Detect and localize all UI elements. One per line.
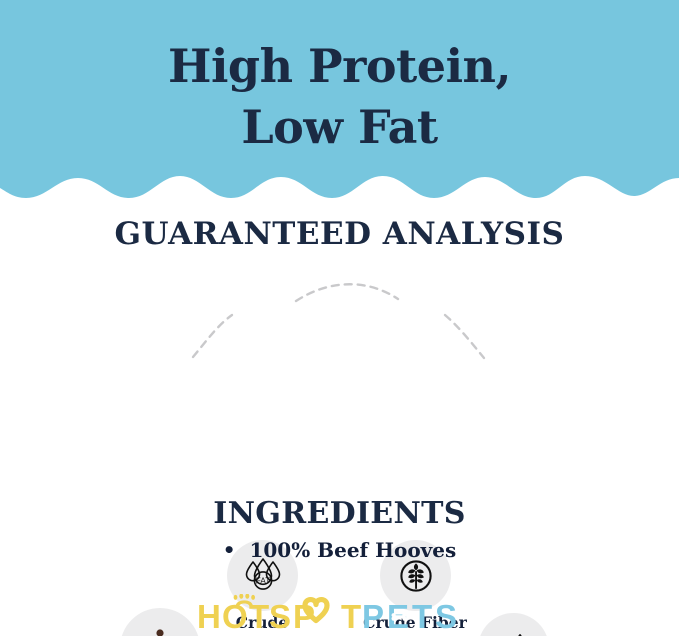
ingredients-list: • 100% Beef Hooves (0, 538, 679, 562)
hero-title: High Protein, Low Fat (0, 36, 679, 158)
svg-text:T: T (249, 598, 270, 634)
svg-text:H: H (197, 598, 221, 634)
product-infographic: High Protein, Low Fat GUARANTEED ANALYSI… (0, 0, 679, 636)
ingredient-item: • 100% Beef Hooves (223, 538, 457, 562)
logo-text-pets: P E T S (362, 598, 458, 634)
svg-text:O: O (222, 598, 248, 634)
svg-text:T: T (341, 598, 362, 634)
logo-text-hotspot: H O T S P T (197, 598, 362, 634)
connector-fat-fiber (296, 284, 398, 301)
connector-fiber-moisture (445, 315, 484, 358)
hero-title-line-1: High Protein, (168, 39, 511, 93)
bullet-glyph: • (223, 538, 236, 562)
ingredients-heading: INGREDIENTS (0, 496, 679, 531)
brand-logo[interactable]: H O T S P T P E T S (0, 592, 679, 636)
hero-title-line-2: Low Fat (0, 97, 679, 158)
guaranteed-analysis-heading: GUARANTEED ANALYSIS (0, 216, 679, 252)
svg-text:T: T (412, 598, 433, 634)
svg-text:P: P (362, 598, 385, 634)
ingredient-label: 100% Beef Hooves (249, 538, 456, 562)
hero-banner: High Protein, Low Fat (0, 0, 679, 212)
connector-protein-fat (193, 315, 232, 357)
connector-lines (0, 265, 679, 480)
hotspotpets-logo-mark: H O T S P T P E T S (195, 594, 485, 634)
svg-text:S: S (435, 598, 458, 634)
nutrient-diagram: Crude Protein 88% MIN FAT Crude (0, 265, 679, 480)
svg-text:S: S (269, 598, 292, 634)
fat-icon-label: FAT (255, 575, 270, 585)
